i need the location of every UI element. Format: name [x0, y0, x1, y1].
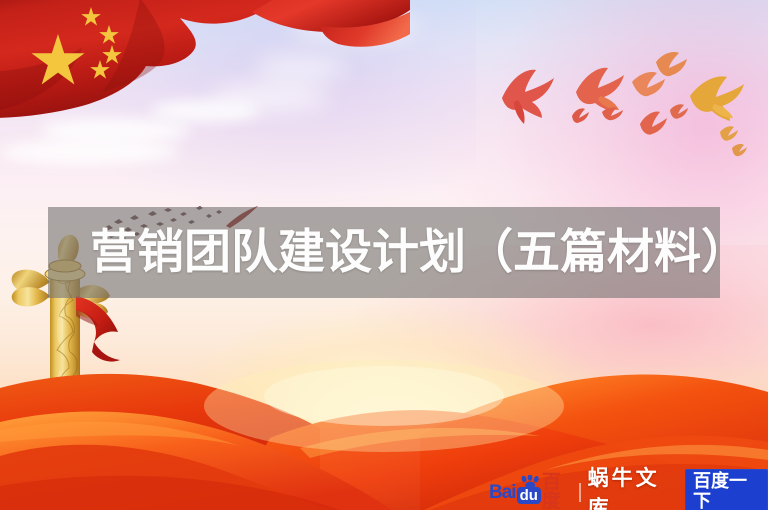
bird-4 [656, 52, 687, 76]
bird-11 [732, 144, 747, 156]
baidu-logo[interactable]: Bai du 百度 [489, 479, 572, 505]
title-overlay-band: 营销团队建设计划（五篇材料） [48, 207, 720, 298]
page-title: 营销团队建设计划（五篇材料） [90, 229, 748, 276]
bird-3 [632, 72, 665, 96]
watermark-separator [579, 483, 581, 502]
bird-10 [720, 126, 738, 140]
baidu-search-button[interactable]: 百度一下 [685, 469, 768, 510]
bird-6 [572, 108, 589, 123]
cover-image-canvas: 营销团队建设计划（五篇材料） Bai du 百度 蜗牛文库 百度一下 [0, 0, 768, 510]
baidu-logo-chinese: 百度 [542, 473, 572, 510]
baidu-paw-icon [520, 475, 542, 489]
baidu-logo-du: du [517, 487, 541, 504]
bird-7 [602, 107, 623, 120]
flying-doves-flock [480, 40, 768, 170]
baidu-logo-bai: Bai [489, 483, 516, 502]
bird-5 [690, 76, 744, 121]
site-brand-name: 蜗牛文库 [588, 462, 677, 510]
watermark-bar: Bai du 百度 蜗牛文库 百度一下 [489, 478, 768, 506]
bird-2 [576, 68, 624, 112]
bird-9 [670, 104, 688, 118]
bird-8 [640, 112, 667, 135]
bird-1 [502, 70, 554, 118]
china-national-flag [0, 0, 410, 178]
